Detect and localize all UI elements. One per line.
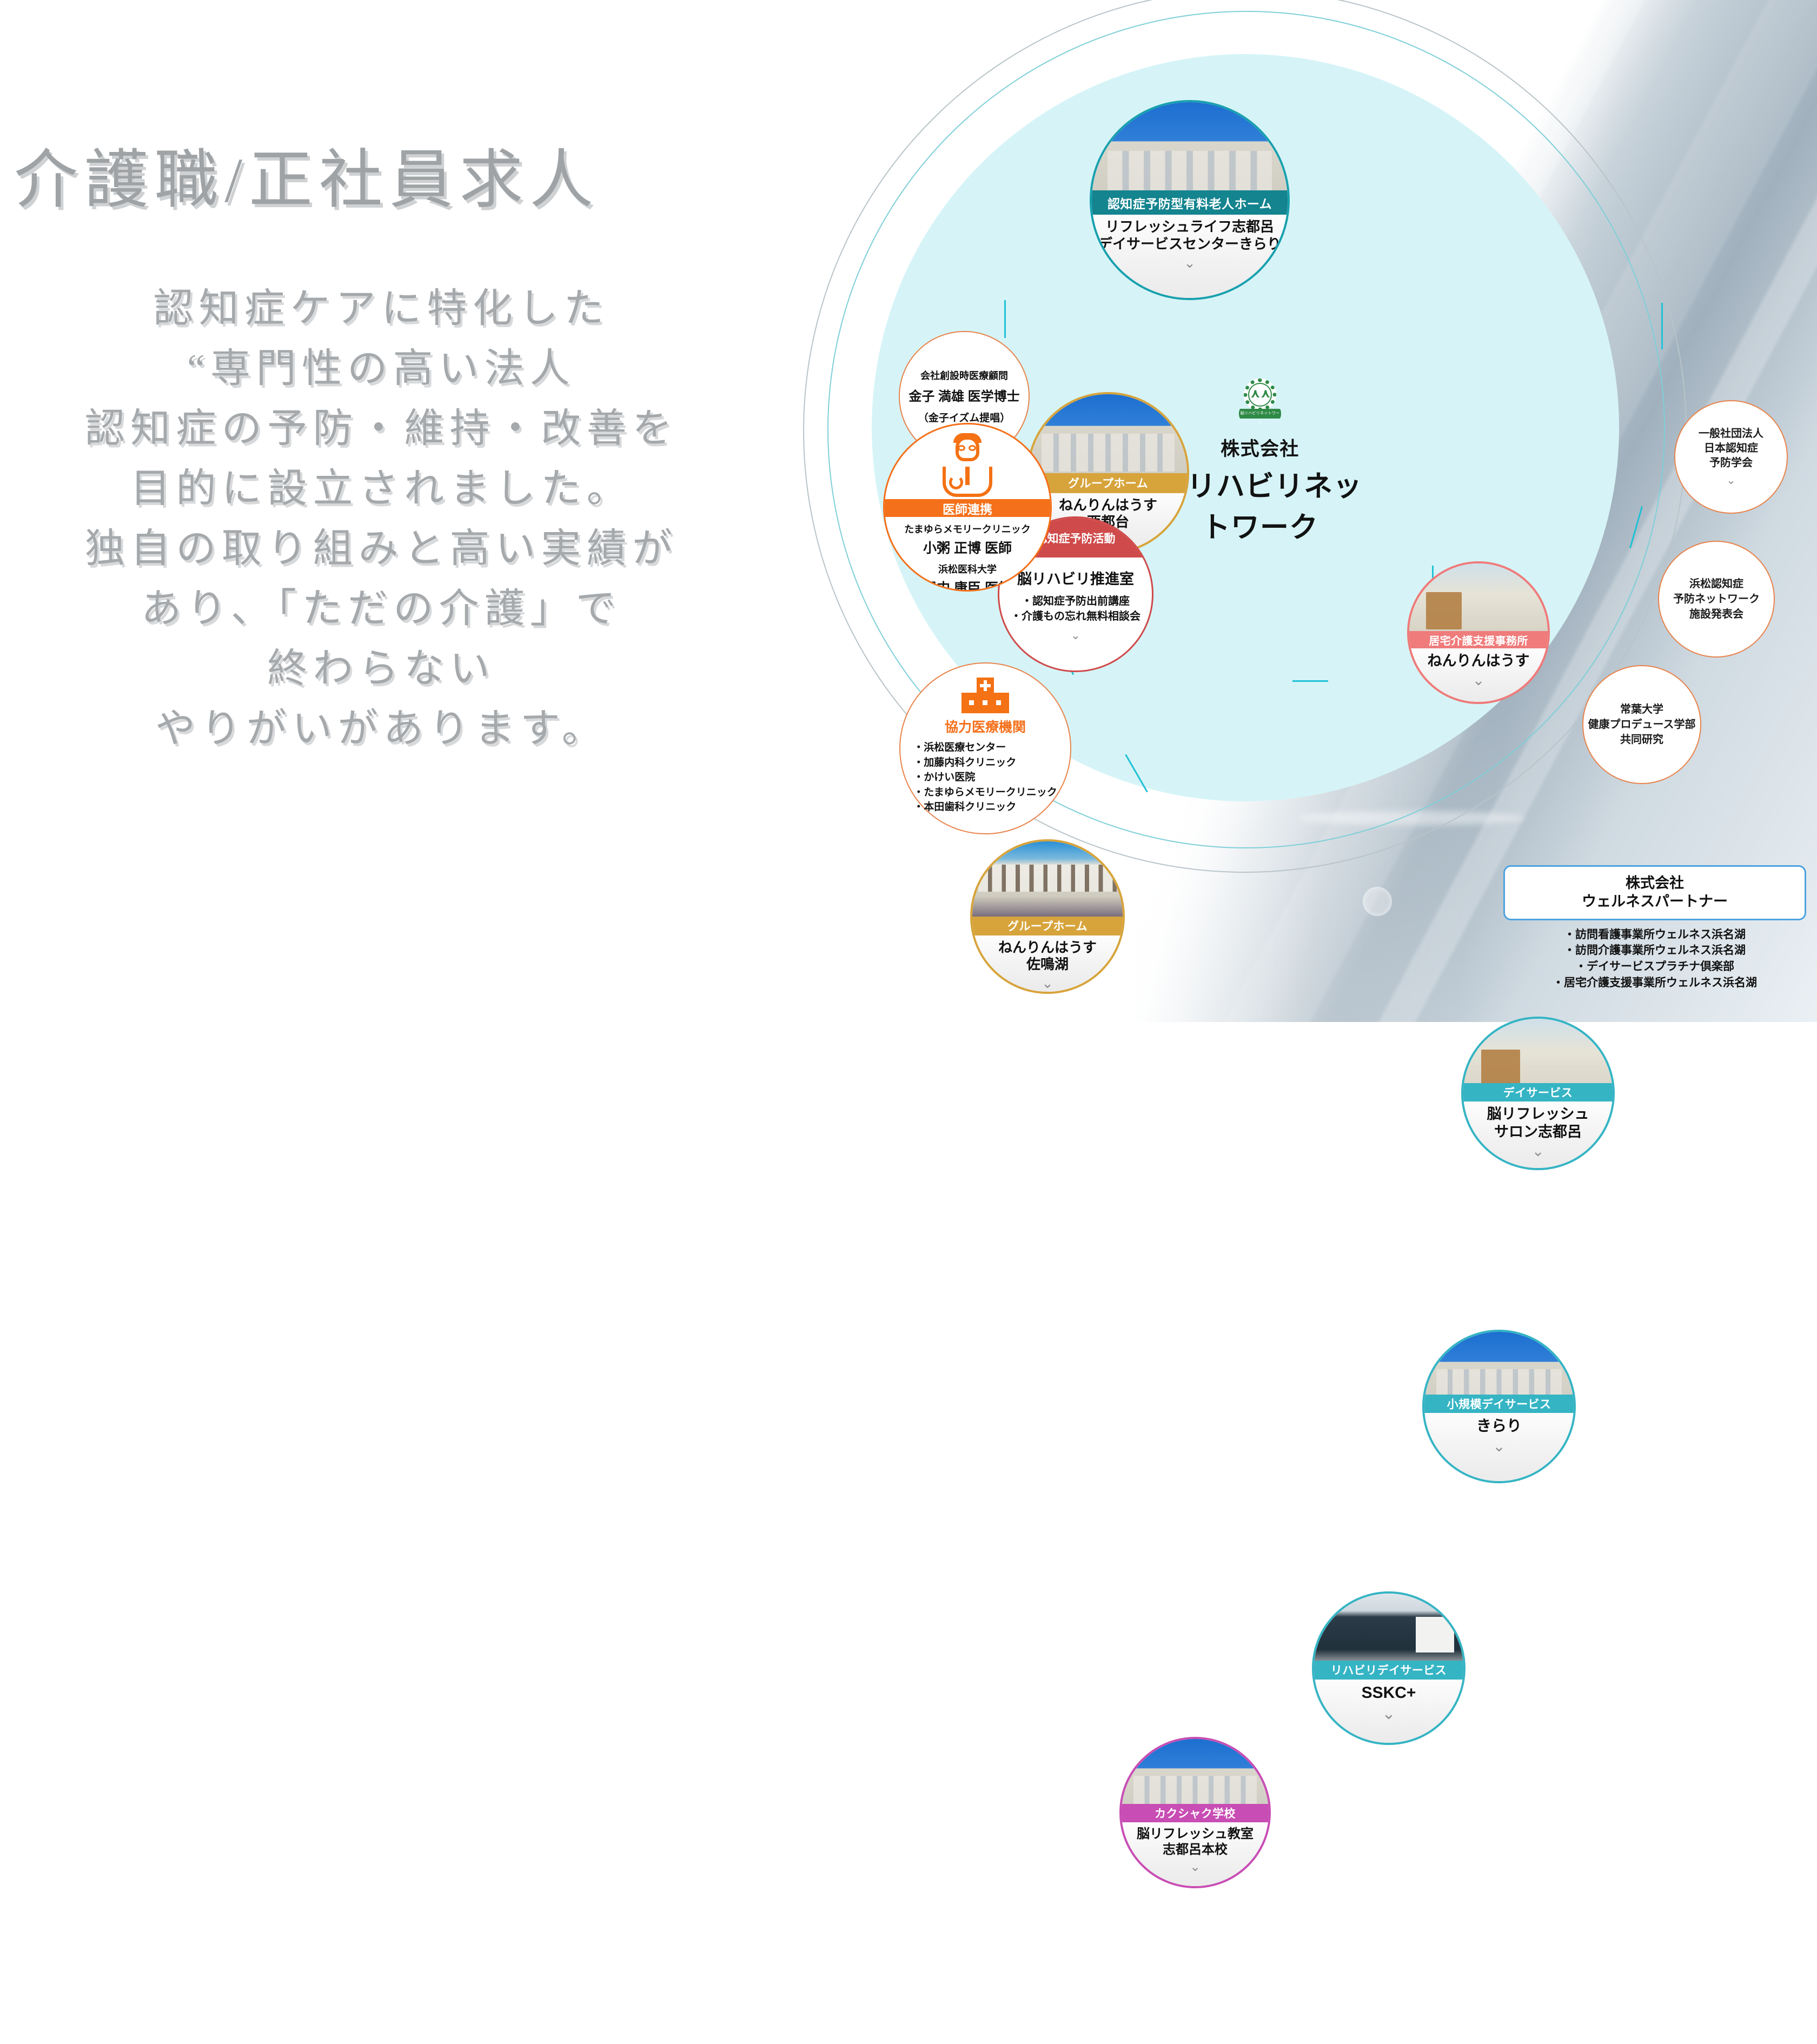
- node-band-label: デイサービス: [1463, 1083, 1613, 1102]
- outer-line: 一般社団法人: [1699, 427, 1763, 441]
- hospital-icon: [961, 678, 1009, 713]
- node-band-label: リハビリデイサービス: [1314, 1661, 1463, 1680]
- advisor-name: 金子 満雄 医学博士: [908, 386, 1019, 404]
- node-nenrin-kyotaku[interactable]: 居宅介護支援事務所 ねんりんはうす ⌄: [1407, 561, 1550, 704]
- node-name-line: 志都呂本校: [1122, 1842, 1269, 1857]
- node-band-label: グループホーム: [1029, 473, 1187, 493]
- activity-item: ・認知症予防出前講座: [999, 594, 1152, 609]
- wellness-partner-item: ・デイサービスプラチナ倶楽部: [1503, 959, 1806, 975]
- node-name-line: サロン志都呂: [1463, 1123, 1613, 1141]
- body-line-3: 認知症の予防・維持・改善を: [22, 399, 741, 459]
- wellness-partner-card[interactable]: 株式会社 ウェルネスパートナー: [1503, 865, 1806, 920]
- node-name-line: きらり: [1424, 1417, 1574, 1435]
- hospital-item: ・加藤内科クリニック: [913, 755, 1057, 771]
- node-tokoha-univ[interactable]: 常葉大学 健康プロデュース学部 共同研究: [1582, 665, 1701, 784]
- chevron-down-icon[interactable]: ⌄: [1409, 672, 1548, 689]
- advisor-role: 会社創設時医療顧問: [920, 368, 1008, 382]
- node-name: リフレッシュライフ志都呂 デイサービスセンターきらり ⌄: [1092, 215, 1288, 298]
- chevron-down-icon[interactable]: ⌄: [1314, 1704, 1463, 1724]
- hospital-item: ・本田歯科クリニック: [913, 800, 1057, 815]
- outer-line: 施設発表会: [1673, 607, 1760, 622]
- doctor-row: 尾内 康臣 医師: [885, 578, 1050, 592]
- chevron-down-icon[interactable]: ⌄: [999, 628, 1152, 642]
- outer-line: 常葉大学: [1588, 702, 1696, 717]
- node-photo: [1314, 1594, 1463, 1671]
- node-name: 脳リフレッシュ サロン志都呂 ⌄: [1463, 1101, 1613, 1168]
- chevron-down-icon[interactable]: ⌄: [1424, 1437, 1574, 1456]
- body-line-5: 独自の取り組みと高い実績が: [22, 519, 741, 579]
- chevron-down-icon[interactable]: ⌄: [1726, 474, 1736, 487]
- node-jp-dementia-society[interactable]: 一般社団法人 日本認知症 予防学会 ⌄: [1674, 400, 1788, 514]
- node-name-line: デイサービスセンターきらり: [1092, 236, 1288, 253]
- node-name-line: リフレッシュライフ志都呂: [1092, 218, 1288, 236]
- company-emblem-icon: ⋏ ⋏ 脳リハビリネットワーク: [1239, 379, 1281, 428]
- partner-hospitals-title: 協力医療機関: [945, 716, 1026, 736]
- hospital-item: ・浜松医療センター: [913, 740, 1057, 755]
- wellness-partner-title-line: 株式会社: [1516, 874, 1794, 893]
- node-name-line: 佐鳴湖: [972, 956, 1123, 973]
- outer-line: 予防ネットワーク: [1673, 592, 1760, 607]
- advisor-note: （金子イズム提唱）: [918, 410, 1010, 424]
- node-name: きらり ⌄: [1424, 1413, 1574, 1481]
- wellness-partner-item: ・居宅介護支援事業所ウェルネス浜名湖: [1503, 975, 1806, 991]
- node-photo: [1409, 563, 1548, 635]
- chevron-down-icon[interactable]: ⌄: [1092, 255, 1288, 272]
- connector-line: [1292, 680, 1328, 682]
- emblem-ribbon-text: 脳リハビリネットワーク: [1239, 409, 1281, 428]
- node-band-label: グループホーム: [972, 917, 1123, 935]
- body-line-4: 目的に設立されました。: [22, 459, 741, 519]
- chevron-down-icon[interactable]: ⌄: [1463, 1143, 1613, 1160]
- body-line-1: 認知症ケアに特化した: [22, 279, 741, 339]
- node-kakushaku-gakko[interactable]: カクシャク学校 脳リフレッシュ教室 志都呂本校 ⌄: [1119, 1737, 1271, 1888]
- node-band-label: 小規模デイサービス: [1424, 1395, 1574, 1413]
- node-name: ねんりんはうす 佐鳴湖 ⌄: [972, 935, 1123, 992]
- node-name: ねんりんはうす ⌄: [1409, 648, 1548, 702]
- node-partner-hospitals[interactable]: 協力医療機関 ・浜松医療センター ・加藤内科クリニック ・かけい医院 ・たまゆら…: [899, 662, 1071, 834]
- wellness-partner-title-line: ウェルネスパートナー: [1516, 893, 1794, 911]
- node-photo: [1029, 394, 1187, 476]
- node-name-line: ねんりんはうす: [972, 939, 1123, 957]
- node-reflesh-life-shitsuro[interactable]: 認知症予防型有料老人ホーム リフレッシュライフ志都呂 デイサービスセンターきらり…: [1090, 100, 1290, 300]
- left-text-column: 介護職/正社員求人 認知症ケアに特化した “専門性の高い法人 認知症の予防・維持…: [0, 0, 800, 1022]
- hospital-item: ・たまゆらメモリークリニック: [913, 785, 1057, 800]
- node-name: 脳リフレッシュ教室 志都呂本校 ⌄: [1122, 1822, 1269, 1886]
- chevron-down-icon[interactable]: ⌄: [972, 975, 1123, 992]
- body-line-8: やりがいがあります。: [22, 699, 741, 759]
- node-photo: [1092, 102, 1288, 204]
- node-name-line: ねんりんはうす: [1029, 497, 1187, 514]
- node-no-refresh-salon[interactable]: デイサービス 脳リフレッシュ サロン志都呂 ⌄: [1461, 1017, 1615, 1170]
- doctor-row: 浜松医科大学: [885, 562, 1050, 576]
- node-sskc-plus[interactable]: リハビリデイサービス SSKC+ ⌄: [1312, 1591, 1465, 1745]
- node-band-label: 医師連携: [885, 499, 1050, 517]
- outer-line: 予防学会: [1699, 456, 1763, 470]
- node-photo: [972, 841, 1123, 920]
- doctor-row: たまゆらメモリークリニック: [885, 522, 1050, 536]
- node-name-line: 脳リフレッシュ: [1463, 1105, 1613, 1123]
- node-band-label: 認知症予防型有料老人ホーム: [1092, 190, 1288, 215]
- node-name: SSKC+ ⌄: [1314, 1680, 1463, 1743]
- connector-line: [1004, 300, 1006, 338]
- chevron-down-icon[interactable]: ⌄: [1122, 1859, 1269, 1875]
- network-diagram: ⋏ ⋏ 脳リハビリネットワーク 株式会社 脳リハビリネットワーク 認知症予防型有…: [752, 0, 1817, 1022]
- activity-item: ・介護もの忘れ無料相談会: [999, 609, 1152, 624]
- page-title: 介護職/正社員求人: [14, 128, 787, 220]
- outer-line: 健康プロデュース学部: [1588, 717, 1696, 732]
- node-name-line: 脳リフレッシュ教室: [1122, 1826, 1269, 1842]
- outer-line: 浜松認知症: [1673, 576, 1760, 592]
- body-line-2: “専門性の高い法人: [22, 339, 741, 399]
- node-band-label: 居宅介護支援事務所: [1409, 631, 1548, 648]
- wellness-partner-item: ・訪問介護事業所ウェルネス浜名湖: [1503, 943, 1806, 959]
- body-line-6: あり、「ただの介護」で: [22, 579, 741, 639]
- doctor-row: 小粥 正博 医師: [885, 537, 1050, 557]
- doctor-icon: [935, 433, 1000, 498]
- outer-line: 日本認知症: [1699, 441, 1763, 456]
- node-nenrin-sanaruko[interactable]: グループホーム ねんりんはうす 佐鳴湖 ⌄: [970, 839, 1125, 994]
- node-name-line: SSKC+: [1314, 1683, 1463, 1703]
- connector-line: [1661, 303, 1663, 349]
- node-band-label: カクシャク学校: [1122, 1804, 1269, 1822]
- body-line-7: 終わらない: [22, 639, 741, 699]
- poster-canvas: 介護職/正社員求人 認知症ケアに特化した “専門性の高い法人 認知症の予防・維持…: [0, 0, 1817, 1022]
- node-doctor-network[interactable]: 医師連携 たまゆらメモリークリニック 小粥 正博 医師 浜松医科大学 尾内 康臣…: [883, 423, 1052, 592]
- node-hamamatsu-network[interactable]: 浜松認知症 予防ネットワーク 施設発表会: [1658, 541, 1775, 658]
- wellness-partner-item: ・訪問看護事業所ウェルネス浜名湖: [1503, 927, 1806, 943]
- node-name-line: ねんりんはうす: [1409, 652, 1548, 670]
- node-kirari[interactable]: 小規模デイサービス きらり ⌄: [1422, 1330, 1576, 1483]
- body-copy: 認知症ケアに特化した “専門性の高い法人 認知症の予防・維持・改善を 目的に設立…: [22, 279, 741, 759]
- hospital-item: ・かけい医院: [913, 770, 1057, 785]
- outer-line: 共同研究: [1588, 732, 1696, 747]
- wellness-partner-block: 株式会社 ウェルネスパートナー ・訪問看護事業所ウェルネス浜名湖 ・訪問介護事業…: [1503, 865, 1806, 991]
